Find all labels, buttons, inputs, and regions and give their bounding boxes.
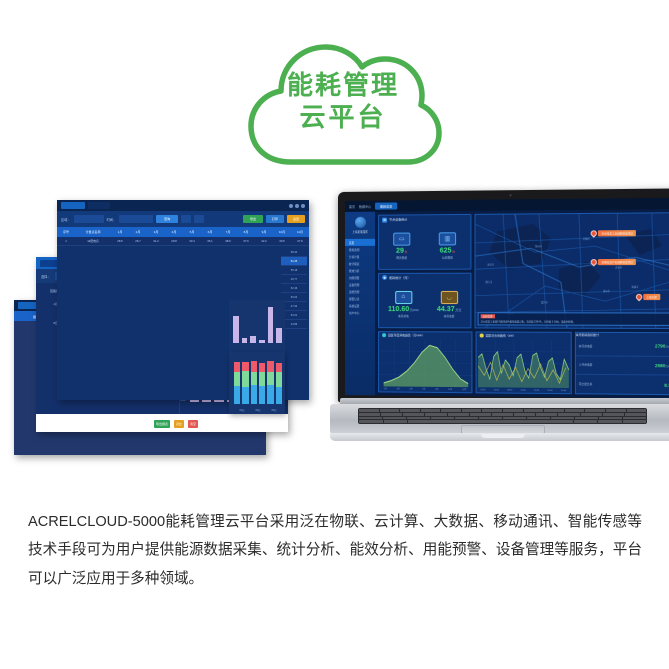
description-paragraph: ACRELCLOUD-5000能耗管理云平台采用泛在物联、云计算、大数据、移动通… <box>28 508 642 593</box>
daily-chart-plot <box>476 340 570 389</box>
daily-x-2: 08:00 <box>507 389 512 391</box>
laptop-open-notch <box>481 434 525 438</box>
annual-chart-plot <box>379 339 471 387</box>
window-a-tab-1[interactable] <box>61 202 85 209</box>
kpi-value-1: 2580万kWh <box>655 363 669 368</box>
energy-stats-card: ✱ 能耗统计（月） ⌂ 110.60万kWh <box>378 273 471 329</box>
gateway-icon: ▭ <box>393 232 410 245</box>
kpi-card: 本月能耗指标统计 本月用电量 2790万kWh <box>575 332 669 395</box>
stat-meter: ▥ 625台 仪表数量 <box>439 232 456 260</box>
window-a-tab-2[interactable] <box>88 202 110 209</box>
map-label-7: 嘉兴市 <box>541 300 548 304</box>
annual-trend-chart: 园区年度用电趋势（万kWh） <box>378 331 472 393</box>
annual-x-2: 3月 <box>397 388 400 391</box>
side-value-3: 49.77 <box>281 275 307 284</box>
report-col-11: 10月 <box>273 230 291 234</box>
map-label-1: 镇江市 <box>485 280 492 284</box>
energy-dashboard: 首页 数据中心 能耗总览 上海某某园区 首页 能耗监测 分项计量 <box>345 198 669 399</box>
dashboard-content: ▤ 节点设备统计 ▭ 29台 <box>375 209 669 398</box>
map-alarm-tooltip: 实时告警 苏州某某工业园1号配电房A相电流越上限，当前值 238.6A，已持续 … <box>478 313 669 326</box>
mini-stack-x-2: 03日 <box>271 408 276 412</box>
map-label-3: 无锡市 <box>583 237 590 241</box>
logo-line-1: 能耗管理 <box>287 71 399 101</box>
mini-stack-bars <box>234 358 282 404</box>
clear-button[interactable]: 清空 <box>188 420 198 428</box>
map-marker-label-2: 上海总部 <box>643 294 660 300</box>
report-cell-11: 30.5 <box>273 239 291 243</box>
cloud-logo-text: 能耗管理 云平台 <box>243 22 443 182</box>
report-col-5: 4月 <box>165 230 183 234</box>
meter-icon: ▥ <box>439 232 456 245</box>
report-cell-12: 27.9 <box>291 239 309 243</box>
side-value-2: 55.18 <box>281 266 307 275</box>
map-tooltip-body: 苏州某某工业园1号配电房A相电流越上限，当前值 238.6A，已持续 3 分钟，… <box>481 319 669 324</box>
export-report-button[interactable]: 导出报表 <box>154 420 170 428</box>
annual-x-11: 12月 <box>462 388 466 391</box>
sidebar-item-user-center[interactable]: 用户中心 <box>345 309 375 316</box>
power-value: 110.60万kWh <box>388 306 419 314</box>
device-icon: ▤ <box>382 217 387 222</box>
map-marker-2[interactable]: 上海总部 <box>635 294 659 300</box>
window-controls <box>289 204 305 208</box>
keyboard-row <box>359 420 646 423</box>
meter-caption: 仪表数量 <box>439 256 456 260</box>
map-label-2: 常州市 <box>535 244 542 248</box>
dashboard-sidebar: 上海某某园区 首页 能耗监测 分项计量 统计报表 能效分析 用能预警 设备管理 … <box>345 212 375 396</box>
keyboard-row <box>359 417 646 420</box>
report-col-12: 11月 <box>291 230 309 234</box>
map-marker-0[interactable]: 苏州某某工业园能耗监测点 <box>591 230 636 236</box>
topbar-item-0[interactable]: 首页 <box>349 204 355 208</box>
report-cell-0: 1 <box>57 239 75 243</box>
logo-line-2: 云平台 <box>299 103 386 133</box>
report-col-4: 3月 <box>147 230 165 234</box>
toolbar-label-area: 区域： <box>61 217 71 222</box>
mini-column-bars <box>233 305 282 343</box>
annual-chart-svg <box>379 339 471 387</box>
maximize-icon[interactable] <box>295 204 299 208</box>
stat-gateway: ▭ 29台 网关数量 <box>393 232 410 260</box>
window-b-buttons: 导出报表 对比 清空 <box>154 420 198 428</box>
compare-button[interactable]: 对比 <box>174 420 184 428</box>
stat-cost: ◡ 44.37万元 本月电费 <box>437 291 462 319</box>
sidebar-item-settings[interactable]: 系统设置 <box>345 302 375 309</box>
keyboard <box>358 408 647 424</box>
toolbar-label-time: 时间： <box>107 217 117 222</box>
map-marker-label-0: 苏州某某工业园能耗监测点 <box>598 230 636 236</box>
report-col-3: 2月 <box>129 230 147 234</box>
device-card-title: 节点设备统计 <box>389 217 407 221</box>
report-cell-8: 38.9 <box>219 239 237 243</box>
mini-stack-x-0: 01日 <box>239 408 244 412</box>
location-pin-icon <box>590 258 599 267</box>
daily-x-5: 20:00 <box>547 389 552 391</box>
report-col-0: 序号 <box>57 230 75 234</box>
annual-chart-x-axis: 1月 3月 5月 7月 9月 11月 12月 <box>379 386 471 392</box>
tab-overview[interactable]: 能耗总览 <box>375 202 397 209</box>
mini-stack-x-1: 02日 <box>255 408 260 412</box>
laptop-mockup: 首页 数据中心 能耗总览 上海某某园区 首页 能耗监测 分项计量 <box>330 192 669 464</box>
settings-button[interactable]: 设置 <box>287 215 305 223</box>
report-col-10: 9月 <box>255 230 273 234</box>
dashboard-row-top: ▤ 节点设备统计 ▭ 29台 <box>378 212 669 329</box>
minimize-icon[interactable] <box>289 204 293 208</box>
cost-caption: 本月电费 <box>437 314 462 318</box>
map-label-4: 苏州市 <box>615 265 622 269</box>
gear-icon: ✱ <box>382 275 387 280</box>
laptop-screen: 首页 数据中心 能耗总览 上海某某园区 首页 能耗监测 分项计量 <box>345 198 669 399</box>
report-cell-7: 35.1 <box>201 239 219 243</box>
keyboard-row <box>359 413 646 416</box>
dashboard-main: 上海某某园区 首页 能耗监测 分项计量 统计报表 能效分析 用能预警 设备管理 … <box>345 209 669 398</box>
power-icon: ⌂ <box>395 291 412 304</box>
map-label-6: 南通市 <box>631 284 638 288</box>
device-stats-card: ▤ 节点设备统计 ▭ 29台 <box>378 214 471 270</box>
yellow-dot-icon <box>479 334 483 338</box>
annual-chart-title: 园区年度用电趋势（万kWh） <box>388 334 425 338</box>
device-card-body: ▭ 29台 网关数量 ▥ <box>379 223 470 269</box>
meter-value: 625台 <box>439 247 456 255</box>
report-col-2: 1月 <box>111 230 129 234</box>
report-cell-10: 32.2 <box>255 239 273 243</box>
annual-x-10: 11月 <box>448 388 452 391</box>
gateway-value: 29台 <box>393 247 410 255</box>
daily-x-4: 16:00 <box>534 389 539 391</box>
side-value-1: 61.25 <box>281 257 307 266</box>
daily-chart-title: 园区日负荷曲线（kW） <box>486 334 516 338</box>
report-cell-3: 26.7 <box>129 239 147 243</box>
kpi-label-0: 本月用电量 <box>579 344 593 348</box>
stat-power: ⌂ 110.60万kWh 本月用电 <box>388 291 419 319</box>
window-b-select-label: 选择： <box>41 274 51 279</box>
annual-x-6: 7月 <box>422 388 425 391</box>
report-cell-6: 33.4 <box>183 239 201 243</box>
kpi-row-1: 上月用电量 2580万kWh <box>576 356 669 376</box>
page-prev[interactable] <box>181 215 191 223</box>
report-col-7: 6月 <box>201 230 219 234</box>
energy-card-title: 能耗统计（月） <box>389 276 410 280</box>
report-col-8: 7月 <box>219 230 237 234</box>
window-a-titlebar <box>57 200 309 211</box>
stat-cards-column: ▤ 节点设备统计 ▭ 29台 <box>378 214 471 328</box>
laptop-lid: 首页 数据中心 能耗总览 上海某某园区 首页 能耗监测 分项计量 <box>338 188 669 405</box>
dashboard-row-bottom: 园区年度用电趋势（万kWh） <box>378 331 669 395</box>
side-value-4: 52.36 <box>281 284 307 293</box>
report-table-header: 序号 计量点名称 1月 2月 3月 4月 5月 6月 7月 8月 9月 10月 … <box>57 227 309 237</box>
side-value-0: 58.40 <box>281 248 307 257</box>
export-button[interactable]: 导出 <box>243 215 263 223</box>
laptop-body <box>330 404 669 434</box>
mini-stacked-bar-chart: 01日 02日 03日 <box>229 352 285 414</box>
report-col-6: 5月 <box>183 230 201 234</box>
cost-value: 44.37万元 <box>437 306 462 314</box>
kpi-row-2: 环比增长率 8.1% <box>576 375 669 394</box>
map-marker-label-1: 无锡某某产业园能耗监测点 <box>598 259 636 265</box>
energy-card-body: ⌂ 110.60万kWh 本月用电 ◡ <box>379 282 470 328</box>
daily-load-chart: 园区日负荷曲线（kW） <box>475 331 571 394</box>
map-graphic <box>476 213 669 328</box>
location-pin-icon <box>590 229 599 238</box>
print-button[interactable]: 打印 <box>266 215 284 223</box>
annual-x-0: 1月 <box>384 387 387 390</box>
location-pin-icon <box>634 292 643 301</box>
report-col-1: 计量点名称 <box>75 230 111 234</box>
map-label-5: 泰州市 <box>603 289 610 293</box>
kpi-label-1: 上月用电量 <box>579 363 593 367</box>
table-row[interactable]: 1 1#配电房 28.5 26.7 31.2 29.8 33.4 35.1 38… <box>57 237 309 246</box>
sidebar-item-alerts[interactable]: 用能预警 <box>345 274 375 281</box>
kpi-label-2: 环比增长率 <box>579 382 593 386</box>
topbar-item-1[interactable]: 数据中心 <box>359 204 371 208</box>
cloud-logo: 能耗管理 云平台 <box>243 22 443 182</box>
daily-x-3: 12:00 <box>521 389 526 391</box>
gateway-caption: 网关数量 <box>393 256 410 260</box>
sidebar-item-devices[interactable]: 设备管理 <box>345 281 375 288</box>
report-col-9: 8月 <box>237 230 255 234</box>
webcam-icon <box>509 194 511 196</box>
map-tooltip-header: 实时告警 <box>481 315 495 319</box>
report-cell-2: 28.5 <box>111 239 129 243</box>
daily-chart-svg <box>476 340 570 389</box>
report-cell-1: 1#配电房 <box>75 239 111 243</box>
page-root: 能耗管理 云平台 报警编号 报警位置 报警类型 发生时间 处理状态 12 1#配… <box>0 0 669 669</box>
daily-chart-x-axis: 00:00 04:00 08:00 12:00 16:00 20:00 24:0… <box>476 387 570 393</box>
sidebar-menu: 首页 能耗监测 分项计量 统计报表 能效分析 用能预警 设备管理 运维管理 报警… <box>345 239 375 316</box>
annual-x-4: 5月 <box>409 388 412 391</box>
map-marker-1[interactable]: 无锡某某产业园能耗监测点 <box>591 259 636 265</box>
daily-x-6: 24:00 <box>561 390 566 392</box>
time-select[interactable] <box>119 215 153 223</box>
query-button[interactable]: 查询 <box>156 215 178 223</box>
annual-x-8: 9月 <box>435 388 438 391</box>
avatar[interactable] <box>354 217 365 228</box>
mini-stack-x-labels: 01日 02日 03日 <box>234 408 282 412</box>
sidebar-item-efficiency[interactable]: 能效分析 <box>345 267 375 274</box>
close-icon[interactable] <box>301 204 305 208</box>
laptop-base <box>330 398 669 444</box>
kpi-value-0: 2790万kWh <box>655 344 669 349</box>
area-select[interactable] <box>74 215 104 223</box>
daily-x-1: 04:00 <box>494 389 499 391</box>
report-cell-5: 29.8 <box>165 239 183 243</box>
cyan-dot-icon <box>382 334 386 338</box>
mini-column-chart <box>229 300 285 352</box>
kpi-row-0: 本月用电量 2790万kWh <box>576 337 669 357</box>
kpi-value-2: 8.1% <box>664 382 669 387</box>
window-a-toolbar: 区域： 时间： 查询 导出 打印 设置 <box>57 211 309 227</box>
keyboard-row <box>359 409 646 412</box>
cost-icon: ◡ <box>440 291 457 304</box>
sidebar-user-name: 上海某某园区 <box>352 230 368 234</box>
power-caption: 本月用电 <box>388 314 419 318</box>
page-next[interactable] <box>194 215 204 223</box>
site-map[interactable]: 南京市 镇江市 常州市 无锡市 苏州市 泰州市 南通市 嘉兴市 湖州市 <box>475 212 669 329</box>
daily-x-0: 00:00 <box>480 389 485 391</box>
sidebar-item-alarm-log[interactable]: 报警记录 <box>345 295 375 302</box>
report-cell-4: 31.2 <box>147 239 165 243</box>
report-cell-9: 37.6 <box>237 239 255 243</box>
map-label-0: 南京市 <box>487 262 494 266</box>
sidebar-item-ops[interactable]: 运维管理 <box>345 288 375 295</box>
energy-card-header: ✱ 能耗统计（月） <box>379 274 470 282</box>
